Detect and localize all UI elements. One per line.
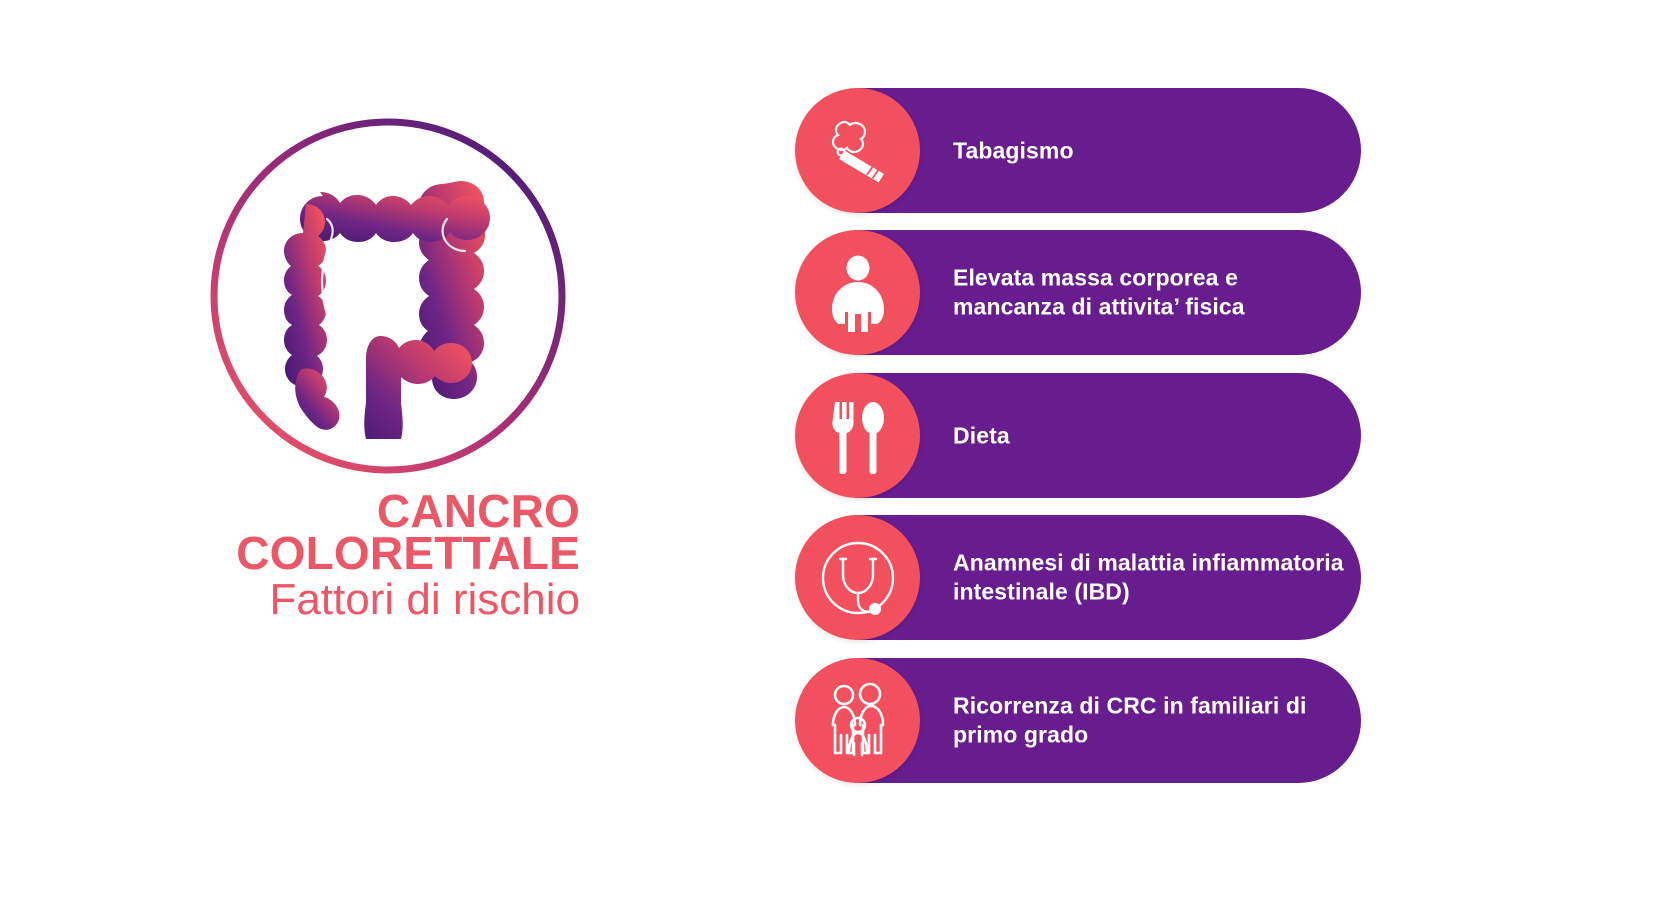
risk-factor-label: Tabagismo <box>953 136 1353 165</box>
stethoscope-icon <box>795 515 920 640</box>
infographic-canvas: CANCRO COLORETTALE Fattori di rischio <box>0 0 1667 907</box>
risk-factor-label: Elevata massa corporea e mancanza di att… <box>953 263 1353 322</box>
risk-factor-label: Anamnesi di malattia infiammatoria intes… <box>953 548 1353 607</box>
page-title: CANCRO COLORETTALE Fattori di rischio <box>60 488 580 622</box>
risk-factor-row-dieta[interactable]: Dieta <box>795 373 1361 498</box>
risk-factor-row-ibd[interactable]: Anamnesi di malattia infiammatoria intes… <box>795 515 1361 640</box>
risk-factor-label: Ricorrenza di CRC in familiari di primo … <box>953 691 1353 750</box>
fork-spoon-icon <box>795 373 920 498</box>
risk-factor-row-tabagismo[interactable]: Tabagismo <box>795 88 1361 213</box>
title-line-2: COLORETTALE <box>60 530 580 576</box>
obese-person-icon <box>795 230 920 355</box>
risk-factor-row-massa[interactable]: Elevata massa corporea e mancanza di att… <box>795 230 1361 355</box>
cigarette-smoke-icon <box>795 88 920 213</box>
risk-factor-row-familiari[interactable]: Ricorrenza di CRC in familiari di primo … <box>795 658 1361 783</box>
colon-illustration-icon <box>264 164 514 439</box>
family-group-icon <box>795 658 920 783</box>
hero-circle <box>208 116 568 476</box>
title-line-3: Fattori di rischio <box>60 578 580 622</box>
risk-factor-label: Dieta <box>953 421 1353 450</box>
risk-factor-list: Tabagismo Elevata massa corporea e manca… <box>795 0 1395 907</box>
